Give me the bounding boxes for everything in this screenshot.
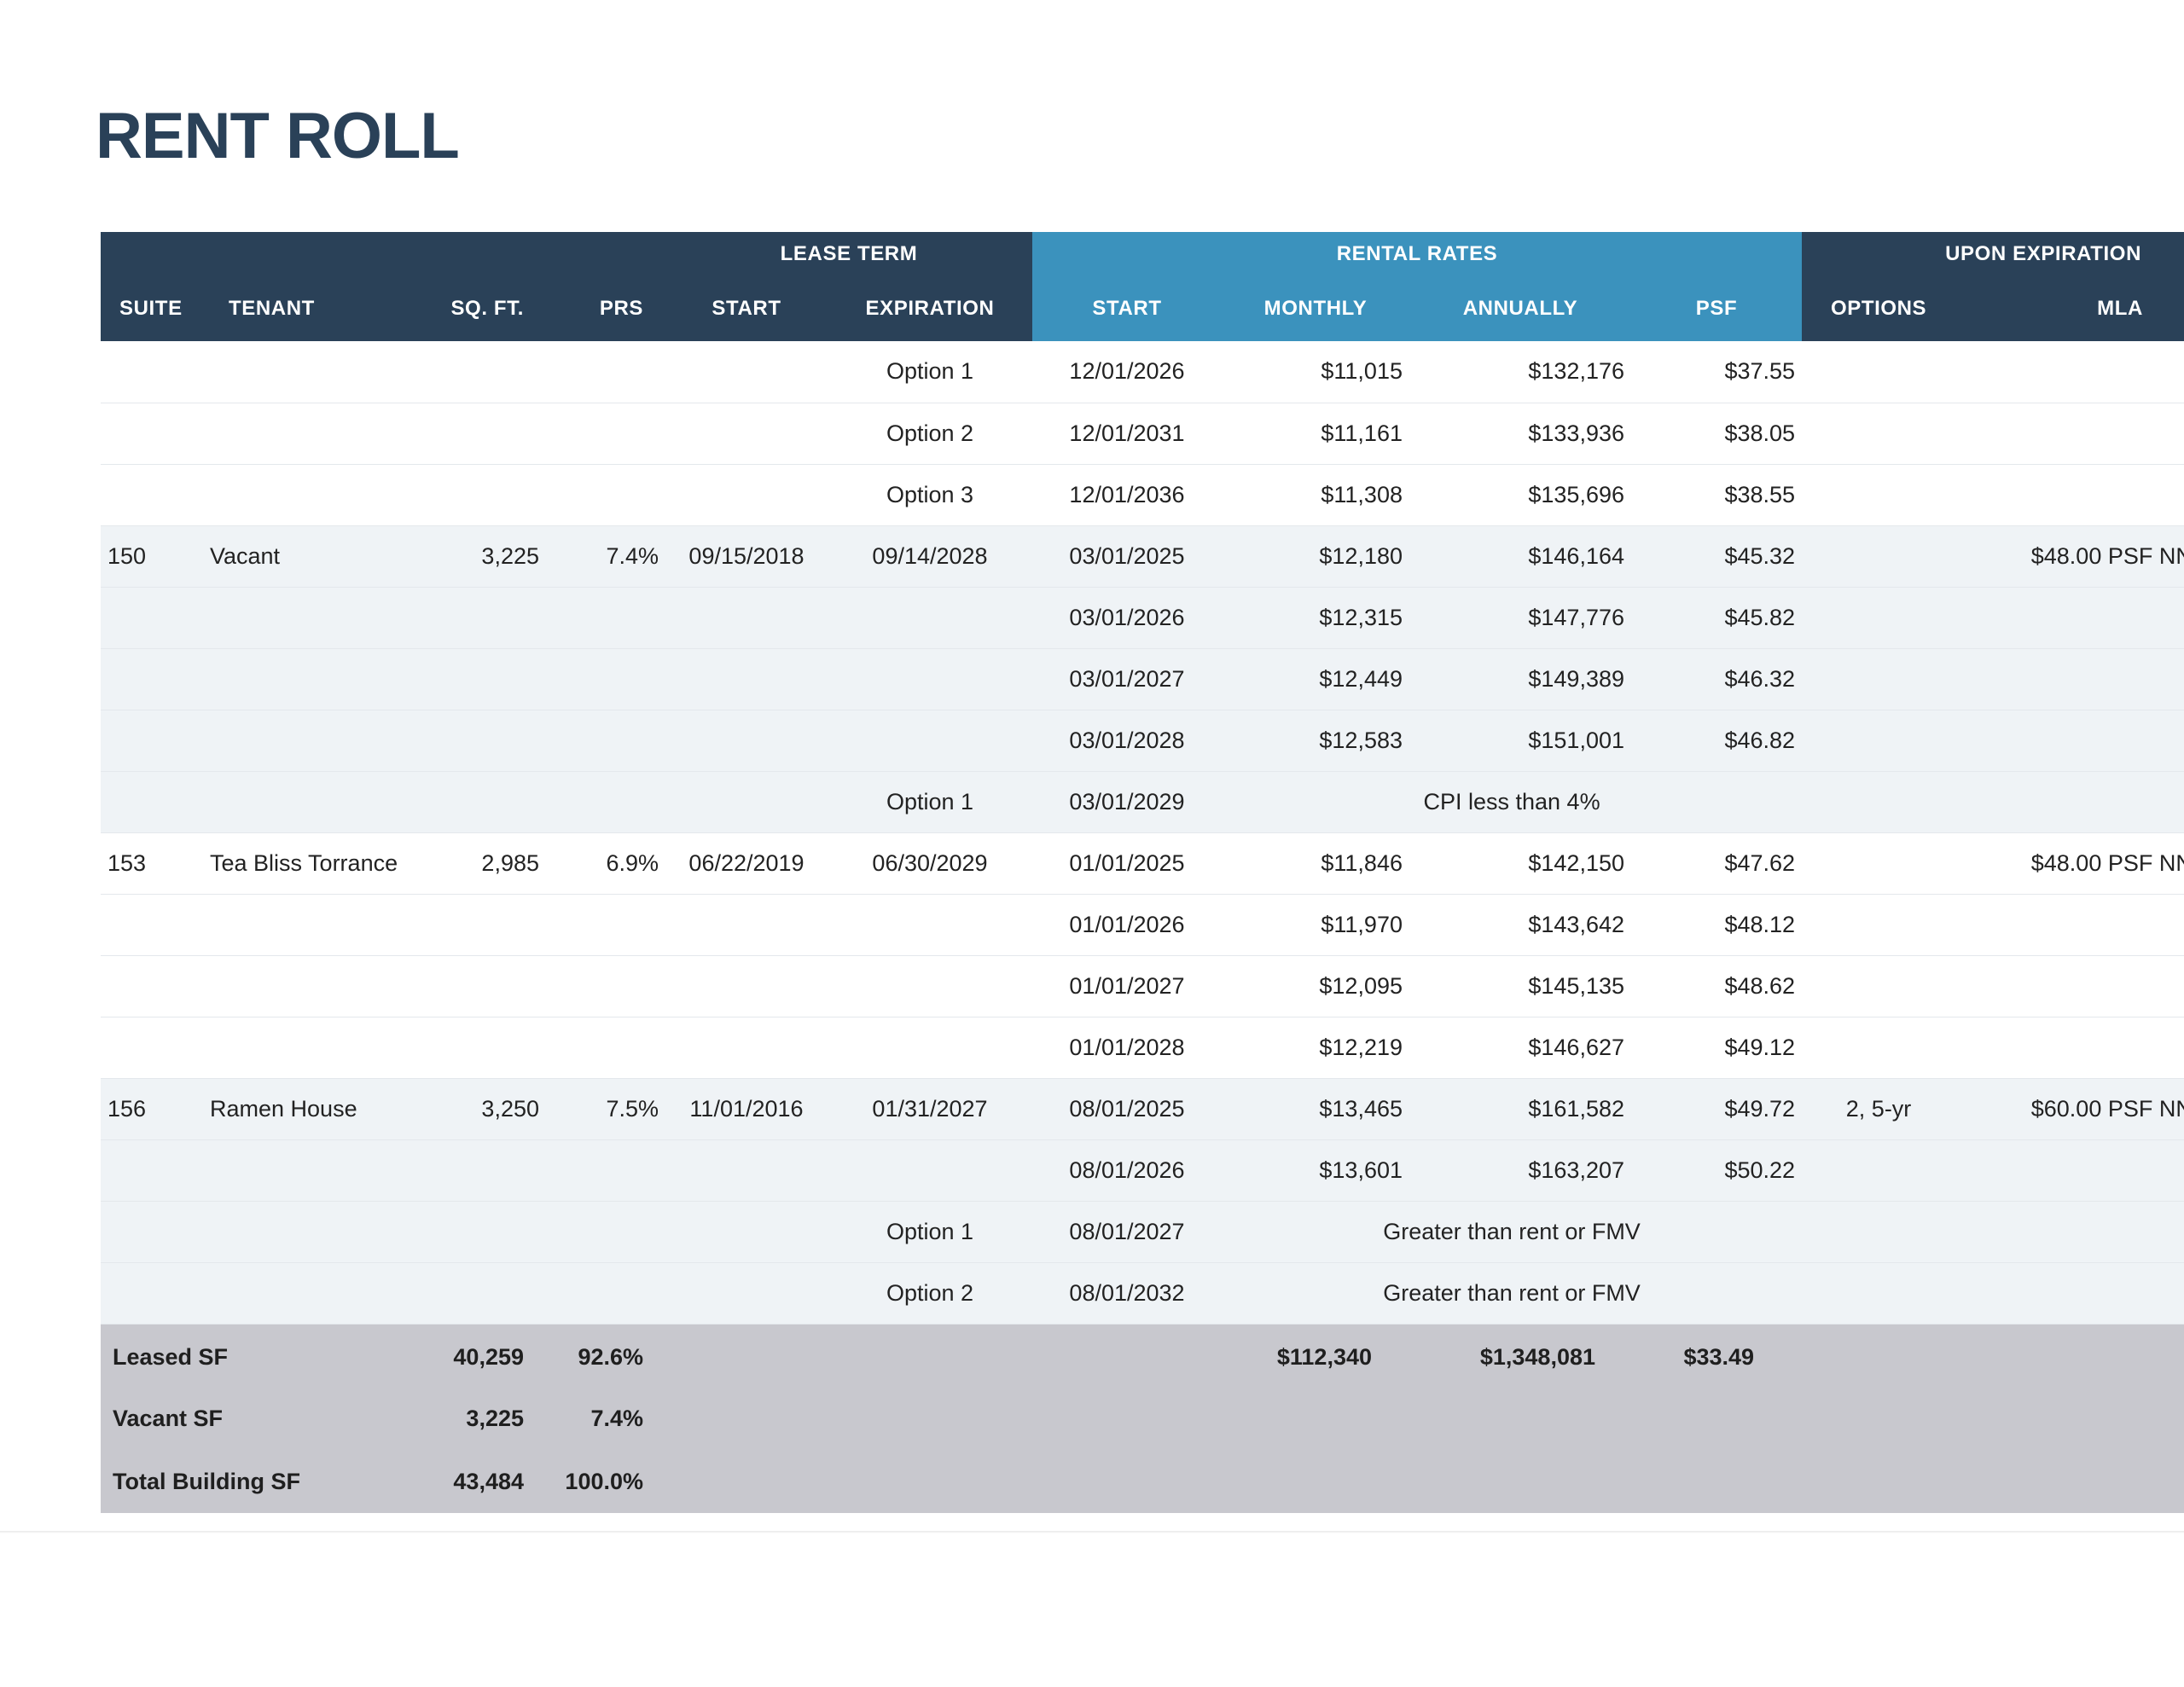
cell-monthly: $11,308 [1222, 464, 1409, 525]
totals-monthly [1222, 1387, 1409, 1450]
totals-annually: $1,348,081 [1409, 1324, 1631, 1387]
cell-options [1802, 1139, 1955, 1201]
totals-monthly [1222, 1450, 1409, 1513]
cell-tenant [203, 1201, 418, 1262]
cell-sqft [418, 587, 546, 648]
cell-prs [546, 1262, 665, 1324]
totals-spacer-options [1802, 1387, 1955, 1450]
cell-options [1802, 1017, 1955, 1078]
cell-rate-start: 01/01/2027 [1032, 955, 1222, 1017]
cell-suite [101, 894, 203, 955]
col-header-prs: PRS [546, 276, 665, 341]
cell-sqft [418, 464, 546, 525]
cell-rate-start: 03/01/2025 [1032, 525, 1222, 587]
cell-monthly: $11,970 [1222, 894, 1409, 955]
cell-prs [546, 341, 665, 403]
cell-tenant [203, 894, 418, 955]
cell-lease-start [665, 341, 828, 403]
cell-tenant: Tea Bliss Torrance [203, 832, 418, 894]
cell-rate-note: CPI less than 4% [1222, 771, 1802, 832]
cell-lease-start [665, 894, 828, 955]
cell-sqft [418, 648, 546, 710]
group-header-rental-rates: RENTAL RATES [1032, 232, 1802, 276]
totals-label: Total Building SF [101, 1450, 418, 1513]
page-title: RENT ROLL [96, 104, 459, 169]
cell-prs [546, 894, 665, 955]
cell-sqft [418, 1201, 546, 1262]
totals-spacer-lease-exp [828, 1450, 1032, 1513]
table-row: 08/01/2026$13,601$163,207$50.22 [101, 1139, 2184, 1201]
cell-prs [546, 648, 665, 710]
cell-mla [1955, 894, 2184, 955]
table-row: Option 212/01/2031$11,161$133,936$38.05 [101, 403, 2184, 464]
cell-rate-note: Greater than rent or FMV [1222, 1201, 1802, 1262]
cell-mla [1955, 648, 2184, 710]
cell-lease-expiration [828, 587, 1032, 648]
cell-lease-start [665, 1139, 828, 1201]
totals-row: Leased SF40,25992.6%$112,340$1,348,081$3… [101, 1324, 2184, 1387]
cell-annually: $146,627 [1409, 1017, 1631, 1078]
cell-annually: $147,776 [1409, 587, 1631, 648]
cell-mla [1955, 1201, 2184, 1262]
totals-annually [1409, 1450, 1631, 1513]
cell-annually: $149,389 [1409, 648, 1631, 710]
cell-prs: 7.5% [546, 1078, 665, 1139]
cell-lease-expiration: Option 2 [828, 1262, 1032, 1324]
cell-sqft: 3,250 [418, 1078, 546, 1139]
cell-suite [101, 648, 203, 710]
cell-mla [1955, 1017, 2184, 1078]
cell-rate-start: 03/01/2029 [1032, 771, 1222, 832]
cell-tenant [203, 1017, 418, 1078]
totals-label: Vacant SF [101, 1387, 418, 1450]
cell-options: 2, 5-yr [1802, 1078, 1955, 1139]
cell-prs [546, 710, 665, 771]
totals-psf [1631, 1387, 1802, 1450]
cell-annually: $135,696 [1409, 464, 1631, 525]
col-header-mla: MLA [1955, 276, 2184, 341]
totals-spacer-lease-exp [828, 1324, 1032, 1387]
cell-suite [101, 1139, 203, 1201]
col-header-sqft: SQ. FT. [418, 276, 546, 341]
group-header-blank-left [101, 232, 665, 276]
cell-suite [101, 710, 203, 771]
cell-lease-start [665, 955, 828, 1017]
cell-lease-expiration: Option 1 [828, 341, 1032, 403]
totals-psf: $33.49 [1631, 1324, 1802, 1387]
cell-tenant [203, 648, 418, 710]
table-row: 01/01/2026$11,970$143,642$48.12 [101, 894, 2184, 955]
cell-lease-start [665, 403, 828, 464]
cell-psf: $46.82 [1631, 710, 1802, 771]
table-header: LEASE TERM RENTAL RATES UPON EXPIRATION … [101, 232, 2184, 341]
cell-prs [546, 403, 665, 464]
cell-options [1802, 1262, 1955, 1324]
cell-lease-expiration: 09/14/2028 [828, 525, 1032, 587]
cell-tenant [203, 771, 418, 832]
col-header-psf: PSF [1631, 276, 1802, 341]
cell-rate-start: 12/01/2026 [1032, 341, 1222, 403]
cell-suite [101, 587, 203, 648]
totals-spacer-rate-start [1032, 1450, 1222, 1513]
rent-roll-page: RENT ROLL LEASE TERM RENTAL RATES UPON E… [0, 0, 2184, 1687]
cell-prs [546, 1139, 665, 1201]
cell-psf: $45.82 [1631, 587, 1802, 648]
cell-lease-start [665, 710, 828, 771]
cell-annually: $143,642 [1409, 894, 1631, 955]
cell-rate-start: 12/01/2031 [1032, 403, 1222, 464]
cell-tenant [203, 464, 418, 525]
cell-lease-start: 11/01/2016 [665, 1078, 828, 1139]
cell-sqft [418, 771, 546, 832]
cell-annually: $142,150 [1409, 832, 1631, 894]
col-header-tenant: TENANT [203, 276, 418, 341]
cell-psf: $37.55 [1631, 341, 1802, 403]
totals-sqft: 40,259 [418, 1324, 546, 1387]
cell-lease-start [665, 464, 828, 525]
totals-annually [1409, 1387, 1631, 1450]
cell-lease-start [665, 771, 828, 832]
cell-options [1802, 525, 1955, 587]
cell-monthly: $13,601 [1222, 1139, 1409, 1201]
cell-lease-start [665, 1017, 828, 1078]
cell-monthly: $11,015 [1222, 341, 1409, 403]
cell-psf: $49.72 [1631, 1078, 1802, 1139]
cell-options [1802, 832, 1955, 894]
cell-mla [1955, 341, 2184, 403]
col-header-lease-start: START [665, 276, 828, 341]
cell-rate-start: 08/01/2025 [1032, 1078, 1222, 1139]
totals-spacer-rate-start [1032, 1324, 1222, 1387]
cell-sqft [418, 403, 546, 464]
cell-tenant [203, 955, 418, 1017]
cell-annually: $133,936 [1409, 403, 1631, 464]
totals-row: Total Building SF43,484100.0% [101, 1450, 2184, 1513]
cell-options [1802, 894, 1955, 955]
cell-suite [101, 955, 203, 1017]
totals-sqft: 3,225 [418, 1387, 546, 1450]
totals-psf [1631, 1450, 1802, 1513]
cell-rate-start: 08/01/2027 [1032, 1201, 1222, 1262]
cell-monthly: $12,449 [1222, 648, 1409, 710]
totals-spacer-mla [1955, 1324, 2184, 1387]
cell-tenant [203, 710, 418, 771]
cell-lease-expiration: 06/30/2029 [828, 832, 1032, 894]
table-row: Option 208/01/2032Greater than rent or F… [101, 1262, 2184, 1324]
table-body: Option 112/01/2026$11,015$132,176$37.55O… [101, 341, 2184, 1324]
table-row: 03/01/2027$12,449$149,389$46.32 [101, 648, 2184, 710]
totals-spacer-lease-start [665, 1324, 828, 1387]
table-row: 153Tea Bliss Torrance2,9856.9%06/22/2019… [101, 832, 2184, 894]
cell-lease-expiration [828, 1017, 1032, 1078]
cell-psf: $48.62 [1631, 955, 1802, 1017]
cell-mla [1955, 587, 2184, 648]
cell-lease-expiration [828, 1139, 1032, 1201]
cell-mla [1955, 1262, 2184, 1324]
table-row: Option 103/01/2029CPI less than 4% [101, 771, 2184, 832]
cell-options [1802, 341, 1955, 403]
cell-lease-expiration [828, 710, 1032, 771]
rent-roll-table: LEASE TERM RENTAL RATES UPON EXPIRATION … [101, 232, 2184, 1513]
totals-spacer-mla [1955, 1450, 2184, 1513]
cell-rate-start: 12/01/2036 [1032, 464, 1222, 525]
table-row: 01/01/2027$12,095$145,135$48.62 [101, 955, 2184, 1017]
totals-sqft: 43,484 [418, 1450, 546, 1513]
table-column-header-row: SUITE TENANT SQ. FT. PRS START EXPIRATIO… [101, 276, 2184, 341]
cell-monthly: $12,583 [1222, 710, 1409, 771]
cell-lease-expiration [828, 955, 1032, 1017]
cell-lease-start: 09/15/2018 [665, 525, 828, 587]
cell-prs [546, 464, 665, 525]
cell-tenant [203, 1139, 418, 1201]
totals-prs: 7.4% [546, 1387, 665, 1450]
cell-monthly: $11,846 [1222, 832, 1409, 894]
cell-lease-start [665, 648, 828, 710]
group-header-upon-expiration: UPON EXPIRATION [1802, 232, 2184, 276]
totals-spacer-options [1802, 1324, 1955, 1387]
cell-rate-start: 03/01/2027 [1032, 648, 1222, 710]
cell-monthly: $12,219 [1222, 1017, 1409, 1078]
cell-suite [101, 403, 203, 464]
cell-mla: $48.00 PSF NNN [1955, 525, 2184, 587]
cell-annually: $151,001 [1409, 710, 1631, 771]
cell-prs: 6.9% [546, 832, 665, 894]
cell-rate-start: 01/01/2025 [1032, 832, 1222, 894]
table-row: 03/01/2028$12,583$151,001$46.82 [101, 710, 2184, 771]
cell-mla [1955, 464, 2184, 525]
cell-suite: 153 [101, 832, 203, 894]
table-row: 156Ramen House3,2507.5%11/01/201601/31/2… [101, 1078, 2184, 1139]
cell-options [1802, 955, 1955, 1017]
cell-psf: $48.12 [1631, 894, 1802, 955]
cell-psf: $49.12 [1631, 1017, 1802, 1078]
cell-tenant [203, 403, 418, 464]
cell-mla [1955, 710, 2184, 771]
totals-spacer-lease-start [665, 1387, 828, 1450]
cell-sqft [418, 341, 546, 403]
cell-suite: 156 [101, 1078, 203, 1139]
cell-prs: 7.4% [546, 525, 665, 587]
cell-annually: $132,176 [1409, 341, 1631, 403]
cell-annually: $145,135 [1409, 955, 1631, 1017]
cell-sqft [418, 955, 546, 1017]
cell-rate-start: 08/01/2032 [1032, 1262, 1222, 1324]
cell-options [1802, 1201, 1955, 1262]
totals-row: Vacant SF3,2257.4% [101, 1387, 2184, 1450]
cell-suite [101, 1262, 203, 1324]
cell-options [1802, 403, 1955, 464]
cell-suite [101, 464, 203, 525]
cell-options [1802, 648, 1955, 710]
group-header-lease-term: LEASE TERM [665, 232, 1032, 276]
cell-annually: $161,582 [1409, 1078, 1631, 1139]
cell-tenant: Ramen House [203, 1078, 418, 1139]
totals-prs: 100.0% [546, 1450, 665, 1513]
cell-lease-start [665, 1201, 828, 1262]
cell-sqft: 3,225 [418, 525, 546, 587]
col-header-suite: SUITE [101, 276, 203, 341]
cell-options [1802, 710, 1955, 771]
cell-mla: $60.00 PSF NNN [1955, 1078, 2184, 1139]
totals-prs: 92.6% [546, 1324, 665, 1387]
cell-annually: $146,164 [1409, 525, 1631, 587]
table-row: 150Vacant3,2257.4%09/15/201809/14/202803… [101, 525, 2184, 587]
col-header-lease-expiration: EXPIRATION [828, 276, 1032, 341]
cell-suite [101, 1201, 203, 1262]
cell-prs [546, 1017, 665, 1078]
cell-sqft [418, 894, 546, 955]
cell-tenant [203, 1262, 418, 1324]
cell-lease-expiration: Option 1 [828, 771, 1032, 832]
cell-tenant [203, 341, 418, 403]
cell-lease-expiration: 01/31/2027 [828, 1078, 1032, 1139]
cell-suite: 150 [101, 525, 203, 587]
cell-annually: $163,207 [1409, 1139, 1631, 1201]
cell-psf: $38.55 [1631, 464, 1802, 525]
col-header-monthly: MONTHLY [1222, 276, 1409, 341]
cell-sqft [418, 710, 546, 771]
cell-mla [1955, 955, 2184, 1017]
cell-monthly: $11,161 [1222, 403, 1409, 464]
totals-spacer-mla [1955, 1387, 2184, 1450]
cell-sqft [418, 1139, 546, 1201]
cell-monthly: $12,315 [1222, 587, 1409, 648]
cell-suite [101, 341, 203, 403]
cell-psf: $45.32 [1631, 525, 1802, 587]
cell-rate-start: 01/01/2026 [1032, 894, 1222, 955]
cell-lease-start [665, 587, 828, 648]
cell-sqft: 2,985 [418, 832, 546, 894]
cell-mla [1955, 771, 2184, 832]
cell-options [1802, 771, 1955, 832]
col-header-rate-start: START [1032, 276, 1222, 341]
cell-sqft [418, 1262, 546, 1324]
cell-rate-start: 03/01/2026 [1032, 587, 1222, 648]
page-footer: 18 ORELIA COMMERCIAL Executive SummaryPr… [0, 1533, 2184, 1687]
cell-options [1802, 587, 1955, 648]
table-group-header-row: LEASE TERM RENTAL RATES UPON EXPIRATION [101, 232, 2184, 276]
table-totals: Leased SF40,25992.6%$112,340$1,348,081$3… [101, 1324, 2184, 1513]
cell-mla [1955, 1139, 2184, 1201]
cell-psf: $50.22 [1631, 1139, 1802, 1201]
cell-lease-expiration: Option 2 [828, 403, 1032, 464]
table-row: Option 312/01/2036$11,308$135,696$38.55 [101, 464, 2184, 525]
cell-lease-expiration: Option 1 [828, 1201, 1032, 1262]
totals-label: Leased SF [101, 1324, 418, 1387]
cell-prs [546, 955, 665, 1017]
cell-psf: $47.62 [1631, 832, 1802, 894]
cell-prs [546, 771, 665, 832]
cell-tenant [203, 587, 418, 648]
totals-spacer-lease-exp [828, 1387, 1032, 1450]
cell-monthly: $13,465 [1222, 1078, 1409, 1139]
cell-psf: $46.32 [1631, 648, 1802, 710]
cell-rate-start: 03/01/2028 [1032, 710, 1222, 771]
cell-monthly: $12,095 [1222, 955, 1409, 1017]
table-row: Option 108/01/2027Greater than rent or F… [101, 1201, 2184, 1262]
cell-lease-expiration [828, 894, 1032, 955]
cell-prs [546, 1201, 665, 1262]
cell-prs [546, 587, 665, 648]
table-row: 03/01/2026$12,315$147,776$45.82 [101, 587, 2184, 648]
cell-lease-expiration [828, 648, 1032, 710]
col-header-annually: ANNUALLY [1409, 276, 1631, 341]
col-header-options: OPTIONS [1802, 276, 1955, 341]
table-row: 01/01/2028$12,219$146,627$49.12 [101, 1017, 2184, 1078]
cell-rate-start: 01/01/2028 [1032, 1017, 1222, 1078]
cell-lease-start [665, 1262, 828, 1324]
totals-spacer-rate-start [1032, 1387, 1222, 1450]
cell-sqft [418, 1017, 546, 1078]
cell-mla: $48.00 PSF NNN [1955, 832, 2184, 894]
cell-options [1802, 464, 1955, 525]
cell-rate-start: 08/01/2026 [1032, 1139, 1222, 1201]
totals-spacer-options [1802, 1450, 1955, 1513]
totals-monthly: $112,340 [1222, 1324, 1409, 1387]
cell-rate-note: Greater than rent or FMV [1222, 1262, 1802, 1324]
totals-spacer-lease-start [665, 1450, 828, 1513]
cell-lease-expiration: Option 3 [828, 464, 1032, 525]
cell-lease-start: 06/22/2019 [665, 832, 828, 894]
cell-tenant: Vacant [203, 525, 418, 587]
cell-psf: $38.05 [1631, 403, 1802, 464]
cell-monthly: $12,180 [1222, 525, 1409, 587]
table-row: Option 112/01/2026$11,015$132,176$37.55 [101, 341, 2184, 403]
cell-suite [101, 771, 203, 832]
cell-mla [1955, 403, 2184, 464]
cell-suite [101, 1017, 203, 1078]
